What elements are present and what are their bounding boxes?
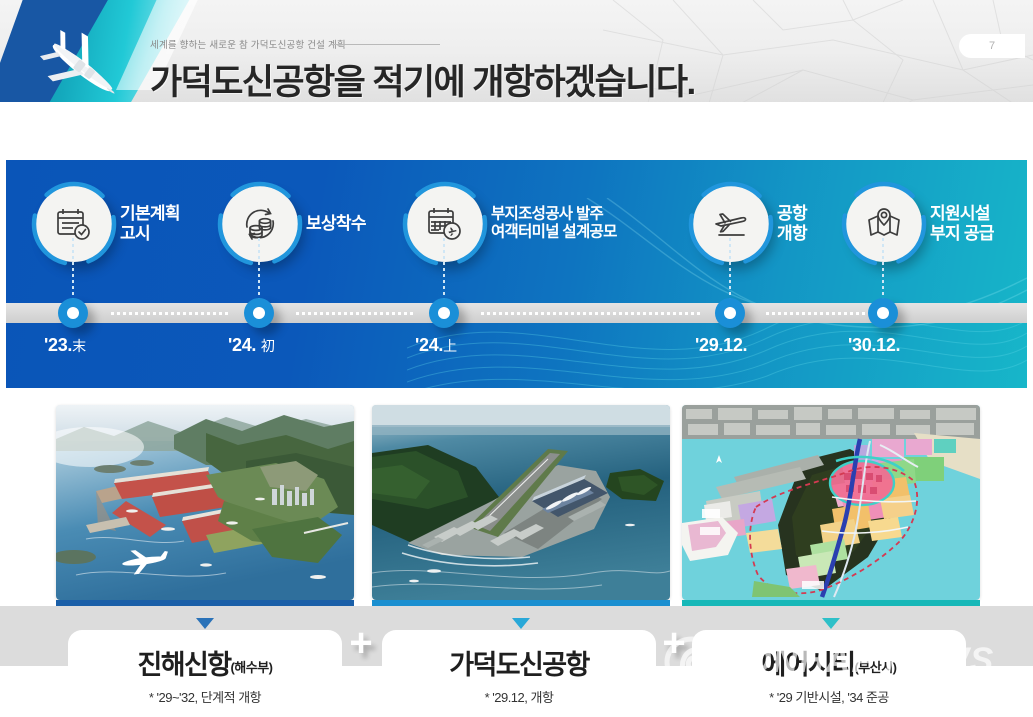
timeline-node-3-date-year: '24.	[415, 335, 443, 355]
timeline-node-3-label-line2: 여객터미널 설계공모	[491, 224, 617, 241]
timeline-node-2-date-year: '24.	[228, 335, 256, 355]
timeline-panel: 기본계획 고시 '23.末	[6, 160, 1027, 388]
project-marker-1	[196, 618, 214, 629]
timeline-node-5-stem	[882, 238, 884, 304]
timeline-node-3-circle	[407, 186, 483, 262]
timeline-node-2[interactable]: 보상착수	[222, 186, 298, 262]
jinhae-new-port-aerial-rendering	[56, 405, 354, 600]
project-card-1-note: * '29~'32, 단계적 개항	[68, 687, 342, 706]
timeline-node-1-date-year: '23.	[44, 335, 72, 355]
header-bottom-white-strip	[0, 102, 1033, 124]
slide-header: 세계를 향하는 새로운 참 가덕도신공항 건설 계획 가덕도신공항을 적기에 개…	[0, 0, 1033, 124]
timeline-node-1-date: '23.末	[44, 335, 86, 356]
timeline-node-5[interactable]: 지원시설 부지 공급	[846, 186, 922, 262]
timeline-dash-2	[296, 312, 416, 315]
gadeokdo-new-airport-aerial-rendering	[372, 405, 670, 600]
timeline-node-4-dot[interactable]	[715, 298, 745, 328]
project-card-2[interactable]: 가덕도신공항 * '29.12, 개항	[382, 630, 656, 717]
project-card-2-title: 가덕도신공항	[382, 643, 656, 682]
timeline-node-1-label-line1: 기본계획	[120, 204, 180, 223]
project-card-3-note: * '29 기반시설, '34 준공	[692, 687, 966, 706]
timeline-node-1-dot[interactable]	[58, 298, 88, 328]
project-card-1-org: (해수부)	[230, 660, 272, 675]
plus-connector-1: +	[344, 628, 378, 662]
progress-ring-icon	[688, 181, 774, 267]
project-card-3-title: 에어시티(부산시)	[692, 643, 966, 682]
timeline-node-1-circle	[36, 186, 112, 262]
timeline-node-3[interactable]: 부지조성공사 발주 여객터미널 설계공모	[407, 186, 483, 262]
timeline-node-3-label: 부지조성공사 발주 여객터미널 설계공모	[491, 206, 617, 243]
air-city-landuse-masterplan-map	[682, 405, 980, 600]
timeline-node-3-stem	[443, 238, 445, 304]
timeline-node-5-date-year: '30.12.	[848, 335, 900, 355]
timeline-node-1-stem	[72, 238, 74, 304]
timeline-node-4-label-line2: 개항	[777, 224, 807, 243]
timeline-node-2-label-line1: 보상착수	[306, 214, 366, 233]
timeline-node-5-circle	[846, 186, 922, 262]
project-card-2-name: 가덕도신공항	[449, 650, 588, 680]
halftone-dots-decoration	[597, 280, 1027, 388]
timeline-node-5-label-line1: 지원시설	[930, 204, 990, 223]
timeline-node-5-date: '30.12.	[848, 335, 900, 356]
progress-ring-icon	[402, 181, 488, 267]
progress-ring-icon	[841, 181, 927, 267]
header-subtitle-rule	[330, 44, 440, 45]
project-card-2-note: * '29.12, 개항	[382, 687, 656, 706]
timeline-dash-4	[766, 312, 866, 315]
timeline-node-5-label-line2: 부지 공급	[930, 224, 994, 243]
timeline-node-4-label: 공항 개항	[777, 204, 807, 244]
page-number: 7	[989, 40, 995, 52]
timeline-node-5-label: 지원시설 부지 공급	[930, 204, 994, 244]
timeline-node-2-label: 보상착수	[306, 214, 366, 234]
timeline-node-4-date: '29.12.	[695, 335, 747, 356]
timeline-node-1-label: 기본계획 고시	[120, 204, 180, 244]
timeline-node-4-label-line1: 공항	[777, 204, 807, 223]
project-card-3[interactable]: 에어시티(부산시) * '29 기반시설, '34 준공	[692, 630, 966, 717]
airplane-icon	[26, 22, 138, 114]
project-marker-3	[822, 618, 840, 629]
timeline-dash-1	[111, 312, 231, 315]
timeline-node-5-dot[interactable]	[868, 298, 898, 328]
timeline-node-1-label-line2: 고시	[120, 224, 150, 243]
timeline-node-3-date: '24.上	[415, 335, 457, 356]
timeline-node-2-dot[interactable]	[244, 298, 274, 328]
page-title: 가덕도신공항을 적기에 개항하겠습니다.	[150, 54, 695, 105]
timeline-node-1[interactable]: 기본계획 고시	[36, 186, 112, 262]
plus-connector-2: +	[657, 628, 691, 662]
timeline-node-2-date-cjk: 初	[261, 338, 275, 354]
project-card-3-name: 에어시티	[761, 650, 854, 680]
timeline-node-3-date-cjk: 上	[443, 338, 457, 354]
header-subtitle: 세계를 향하는 새로운 참 가덕도신공항 건설 계획	[150, 37, 346, 51]
project-marker-2	[512, 618, 530, 629]
timeline-node-4-stem	[729, 238, 731, 304]
project-card-3-org: (부산시)	[854, 660, 896, 675]
project-card-1-title: 진해신항(해수부)	[68, 643, 342, 682]
timeline-dash-3	[481, 312, 701, 315]
timeline-node-3-dot[interactable]	[429, 298, 459, 328]
timeline-node-3-label-line1: 부지조성공사 발주	[491, 206, 603, 223]
timeline-node-2-date: '24. 初	[228, 335, 275, 356]
timeline-node-4-date-year: '29.12.	[695, 335, 747, 355]
project-image-3	[682, 405, 980, 600]
timeline-node-2-stem	[258, 238, 260, 304]
project-card-1-name: 진해신항	[137, 650, 230, 680]
project-image-2	[372, 405, 670, 600]
timeline-node-2-circle	[222, 186, 298, 262]
page-number-badge: 7	[959, 34, 1025, 58]
slide-canvas: 세계를 향하는 새로운 참 가덕도신공항 건설 계획 가덕도신공항을 적기에 개…	[0, 0, 1033, 717]
project-card-1[interactable]: 진해신항(해수부) * '29~'32, 단계적 개항	[68, 630, 342, 717]
project-image-1	[56, 405, 354, 600]
progress-ring-icon	[31, 181, 117, 267]
timeline-node-1-date-cjk: 末	[72, 338, 86, 354]
timeline-node-4-circle	[693, 186, 769, 262]
progress-ring-icon	[217, 181, 303, 267]
timeline-node-4[interactable]: 공항 개항	[693, 186, 769, 262]
